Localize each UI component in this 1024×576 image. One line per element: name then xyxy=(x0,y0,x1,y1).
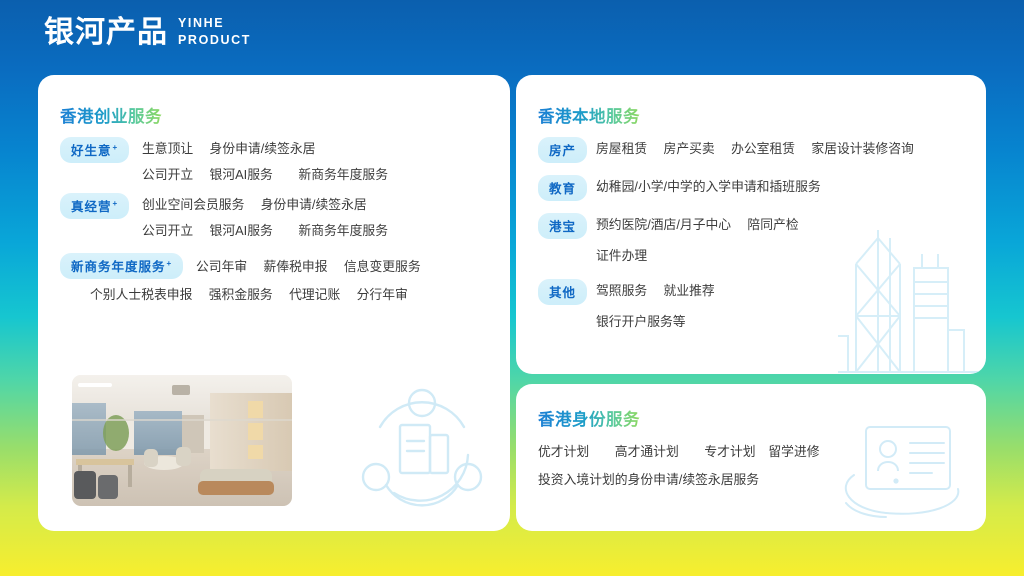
badge-cell: 其他 xyxy=(538,279,596,305)
table-row: 公司开立 银河AI服务 新商务年度服务 xyxy=(60,163,490,186)
badge-zhenjingying[interactable]: 真经营+ xyxy=(60,193,129,219)
card-startup-services: 香港创业服务 好生意+ 生意顶让 身份申请/续签永居 公司开立 银河AI服务 新… xyxy=(38,75,510,531)
table-row: 教育 幼稚园/小学/中学的入学申请和插班服务 xyxy=(538,175,978,201)
card-identity-services: 香港身份服务 优才计划 高才通计划 专才计划 留学进修 投资入境计划的身份申请/… xyxy=(516,384,986,531)
badge-new-business-annual-service[interactable]: 新商务年度服务+ xyxy=(60,253,183,279)
row-items: 公司年审 薪俸税申报 信息变更服务 xyxy=(183,255,420,278)
row-items: 个别人士税表申报 强积金服务 代理记账 分行年审 xyxy=(90,283,408,306)
table-row: 公司开立 银河AI服务 新商务年度服务 xyxy=(60,219,490,242)
page-header: 银河产品 YINHE PRODUCT xyxy=(44,16,251,49)
table-row: 新商务年度服务+ 公司年审 薪俸税申报 信息变更服务 xyxy=(60,253,490,279)
id-card-person-icon xyxy=(832,417,972,527)
row-items: 公司开立 银河AI服务 新商务年度服务 xyxy=(142,163,388,186)
badge-haoshengyi[interactable]: 好生意+ xyxy=(60,137,129,163)
card-title-identity: 香港身份服务 xyxy=(538,406,640,430)
office-interior-photo xyxy=(72,375,292,506)
badge-cell: 教育 xyxy=(538,175,596,201)
startup-service-rows: 好生意+ 生意顶让 身份申请/续签永居 公司开立 银河AI服务 新商务年度服务 … xyxy=(60,137,490,306)
page-title-chinese: 银河产品 xyxy=(44,16,168,49)
table-row: 个别人士税表申报 强积金服务 代理记账 分行年审 xyxy=(60,283,490,306)
badge-gangbao[interactable]: 港宝 xyxy=(538,213,587,239)
badge-cell: 好生意+ xyxy=(60,137,142,163)
table-row: 好生意+ 生意顶让 身份申请/续签永居 xyxy=(60,137,490,163)
badge-cell: 港宝 xyxy=(538,213,596,239)
office-interior-illustration xyxy=(72,375,292,506)
row-items: 证件办理 xyxy=(596,244,647,267)
badge-other[interactable]: 其他 xyxy=(538,279,587,305)
page-title-english-line1: YINHE xyxy=(178,16,251,33)
row-items: 生意顶让 身份申请/续签永居 xyxy=(142,137,315,160)
hongkong-skyline-icon xyxy=(838,224,986,374)
card-title-local: 香港本地服务 xyxy=(538,103,640,127)
badge-cell: 真经营+ xyxy=(60,193,142,219)
badge-education[interactable]: 教育 xyxy=(538,175,587,201)
badge-cell: 房产 xyxy=(538,137,596,163)
document-building-circles-icon xyxy=(356,381,488,513)
row-items: 预约医院/酒店/月子中心 陪同产检 xyxy=(596,213,799,236)
table-row: 房产 房屋租赁 房产买卖 办公室租赁 家居设计装修咨询 xyxy=(538,137,978,163)
row-items: 房屋租赁 房产买卖 办公室租赁 家居设计装修咨询 xyxy=(596,137,914,160)
row-items: 银行开户服务等 xyxy=(596,310,686,333)
badge-property[interactable]: 房产 xyxy=(538,137,587,163)
row-items: 幼稚园/小学/中学的入学申请和插班服务 xyxy=(596,175,821,198)
page-title-english-line2: PRODUCT xyxy=(178,33,251,50)
page-title-english: YINHE PRODUCT xyxy=(178,16,251,49)
card-title-startup: 香港创业服务 xyxy=(60,103,162,127)
row-items: 驾照服务 就业推荐 xyxy=(596,279,715,302)
table-row: 真经营+ 创业空间会员服务 身份申请/续签永居 xyxy=(60,193,490,219)
row-items: 公司开立 银河AI服务 新商务年度服务 xyxy=(142,219,388,242)
card-local-services: 香港本地服务 房产 房屋租赁 房产买卖 办公室租赁 家居设计装修咨询 教育 幼稚… xyxy=(516,75,986,374)
row-items: 创业空间会员服务 身份申请/续签永居 xyxy=(142,193,367,216)
